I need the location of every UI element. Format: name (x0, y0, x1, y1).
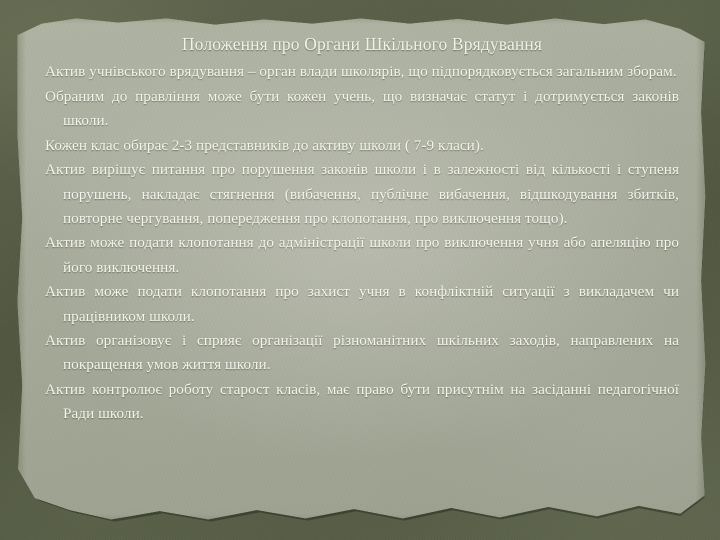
body-paragraph: Кожен клас обирає 2-3 представників до а… (45, 134, 679, 158)
body-paragraph: Актив вирішує питання про порушення зако… (45, 158, 679, 231)
body-paragraph: Актив учнівського врядування – орган вла… (45, 60, 679, 84)
slide-title: Положення про Органи Шкільного Врядуванн… (45, 32, 679, 57)
body-paragraph: Актив може подати клопотання про захист … (45, 280, 679, 328)
slide-content: Положення про Органи Шкільного Врядуванн… (45, 32, 679, 427)
body-paragraph: Актив організовує і сприяє організації р… (45, 329, 679, 377)
body-paragraph: Актив може подати клопотання до адмініст… (45, 231, 679, 279)
body-paragraph: Обраним до правління може бути кожен уче… (45, 85, 679, 133)
body-paragraph: Актив контролює роботу старост класів, м… (45, 378, 679, 426)
presentation-slide: Положення про Органи Шкільного Врядуванн… (0, 0, 720, 540)
